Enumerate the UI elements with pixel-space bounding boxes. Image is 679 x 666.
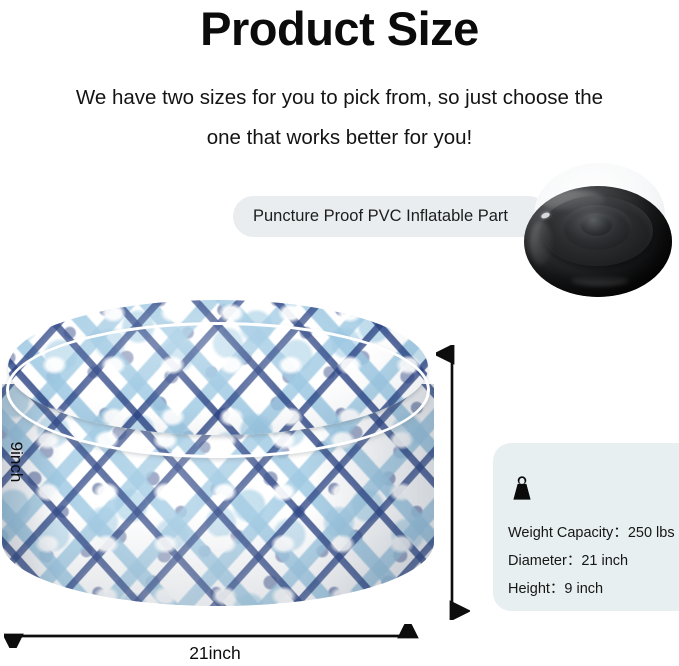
- subtitle-line-1: We have two sizes for you to pick from, …: [76, 86, 603, 109]
- pvc-ring-inner: [580, 213, 613, 236]
- spec-value-diameter: 21 inch: [581, 553, 628, 569]
- ottoman-top-lid: [8, 300, 428, 435]
- spec-row-weight-capacity: Weight Capacity：250 lbs: [508, 519, 679, 547]
- spec-value-weight-capacity: 250 lbs: [628, 525, 675, 541]
- callout-label: Puncture Proof PVC Inflatable Part: [253, 196, 508, 237]
- spec-sep-0: ：: [613, 525, 628, 541]
- weight-icon: [508, 474, 536, 502]
- spec-sep-1: ：: [567, 553, 582, 569]
- spec-row-diameter: Diameter：21 inch: [508, 547, 679, 575]
- spec-label-diameter: Diameter: [508, 553, 567, 569]
- spec-label-weight-capacity: Weight Capacity: [508, 525, 613, 541]
- spec-label-height: Height: [508, 581, 550, 597]
- ottoman-illustration: [2, 300, 434, 620]
- width-dimension-label: 21inch: [140, 643, 290, 664]
- page-title: Product Size: [0, 2, 679, 56]
- subtitle-line-2: one that works better for you!: [14, 118, 665, 158]
- height-dimension-arrow: [436, 345, 470, 620]
- pvc-highlight-top: [539, 190, 605, 210]
- spec-card: Weight Capacity：250 lbs Diameter：21 inch…: [493, 443, 679, 611]
- product-size-infographic: Product Size We have two sizes for you t…: [0, 0, 679, 666]
- spec-sep-2: ：: [550, 581, 565, 597]
- pvc-highlight-bottom: [571, 275, 629, 286]
- spec-row-height: Height：9 inch: [508, 575, 679, 603]
- ikat-pattern-top: [8, 300, 428, 435]
- callout-pill: Puncture Proof PVC Inflatable Part: [233, 196, 549, 237]
- spec-value-height: 9 inch: [564, 581, 603, 597]
- spec-rows: Weight Capacity：250 lbs Diameter：21 inch…: [508, 519, 679, 603]
- page-subtitle: We have two sizes for you to pick from, …: [14, 78, 665, 158]
- pvc-highlight-left: [530, 221, 552, 265]
- ikat-voids-top: [8, 300, 428, 435]
- height-dimension-label: 9inch: [6, 430, 26, 494]
- pvc-inflatable-part-photo: [517, 163, 679, 306]
